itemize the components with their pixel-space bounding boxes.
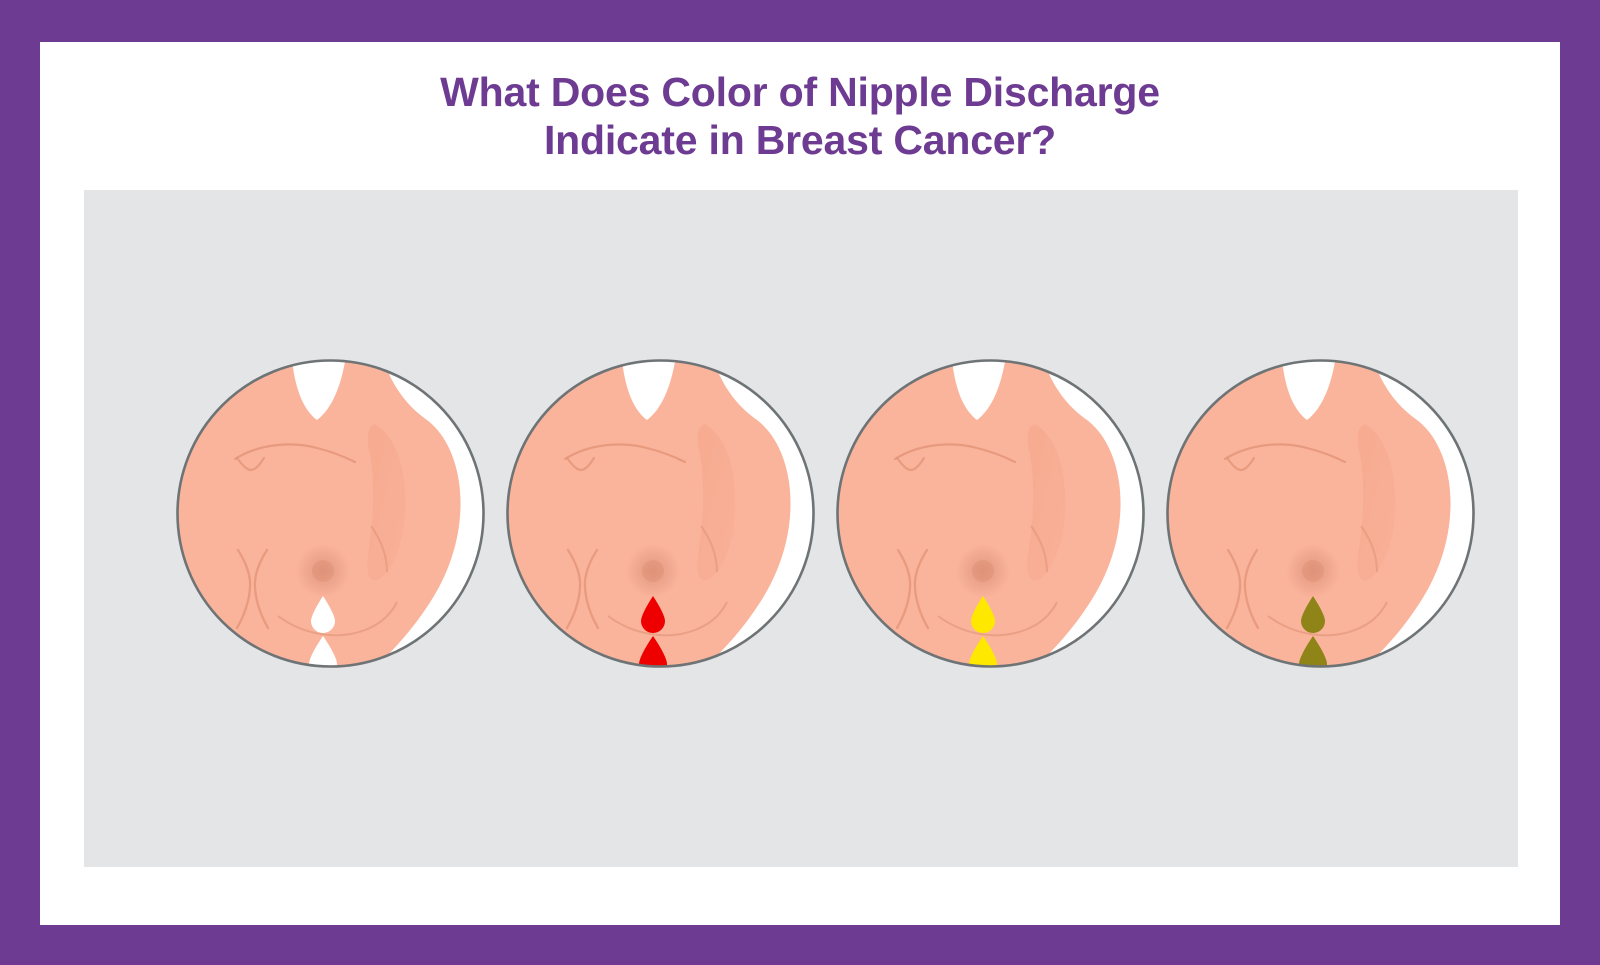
nipple: [312, 560, 334, 582]
page-title: What Does Color of Nipple Discharge Indi…: [40, 68, 1560, 165]
nipple: [972, 560, 994, 582]
circle-row: [84, 190, 1518, 867]
nipple: [642, 560, 664, 582]
illustration-panel: [84, 190, 1518, 867]
breast-illustration-svg-white: [175, 358, 486, 669]
breast-illustration-svg-yellow: [835, 358, 1146, 669]
infographic-root: What Does Color of Nipple Discharge Indi…: [0, 0, 1600, 965]
breast-illustration-svg-red: [505, 358, 816, 669]
breast-illustration-circle-brown: [1165, 358, 1476, 669]
white-card: What Does Color of Nipple Discharge Indi…: [40, 42, 1560, 925]
breast-illustration-circle-white: [175, 358, 486, 669]
breast-illustration-circle-red: [505, 358, 816, 669]
breast-illustration-svg-brown: [1165, 358, 1476, 669]
title-block: What Does Color of Nipple Discharge Indi…: [40, 68, 1560, 165]
nipple: [1302, 560, 1324, 582]
breast-illustration-circle-yellow: [835, 358, 1146, 669]
